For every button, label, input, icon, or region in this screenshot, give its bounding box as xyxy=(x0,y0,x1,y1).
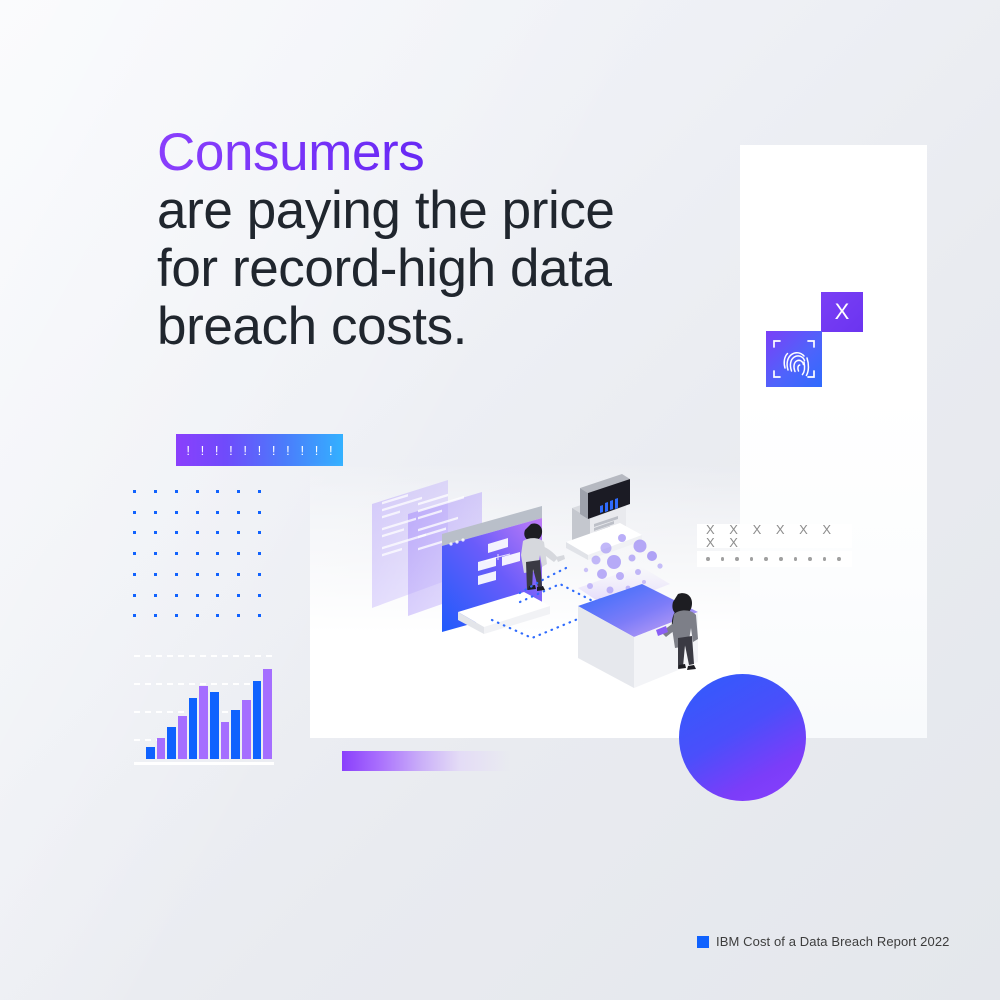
password-dot xyxy=(779,557,783,561)
headline-line-4: breach costs. xyxy=(157,298,717,356)
grid-dot xyxy=(237,552,240,555)
chart-bar xyxy=(231,710,240,759)
chart-bar xyxy=(157,738,166,759)
grid-dot xyxy=(175,490,178,493)
grid-dot xyxy=(216,573,219,576)
password-dots-row xyxy=(697,551,852,567)
headline-line-2: are paying the price xyxy=(157,182,717,240)
grid-dot xyxy=(237,594,240,597)
grid-dot xyxy=(175,573,178,576)
grid-dot xyxy=(154,531,157,534)
grid-dot xyxy=(154,614,157,617)
grid-dot xyxy=(154,490,157,493)
chart-bar xyxy=(253,681,262,759)
grid-dot xyxy=(175,594,178,597)
grid-dot xyxy=(237,531,240,534)
grid-dot xyxy=(258,490,261,493)
grid-dot xyxy=(216,552,219,555)
password-dot xyxy=(735,557,739,561)
grid-dot xyxy=(175,614,178,617)
alert-mark-1: ! xyxy=(201,444,205,457)
chart-bar xyxy=(146,747,155,759)
grid-dot xyxy=(196,511,199,514)
chart-bar xyxy=(221,722,230,759)
page-title: Consumers are paying the price for recor… xyxy=(157,124,717,356)
chart-bar xyxy=(263,669,272,759)
x-badge: X xyxy=(821,292,863,332)
masked-password-field[interactable]: X X X X X X X X xyxy=(697,524,852,548)
x-badge-label: X xyxy=(835,301,850,323)
bar-chart xyxy=(134,655,274,767)
grid-dot xyxy=(196,531,199,534)
grid-dot xyxy=(258,573,261,576)
alert-mark-7: ! xyxy=(286,444,290,457)
alert-mark-9: ! xyxy=(315,444,319,457)
grid-dot xyxy=(196,573,199,576)
isometric-illustration xyxy=(310,462,740,738)
chart-gridline xyxy=(134,655,274,657)
password-dot xyxy=(837,557,841,561)
grid-dot xyxy=(258,614,261,617)
grid-dot xyxy=(258,594,261,597)
chart-bars xyxy=(146,661,272,759)
alert-mark-10: ! xyxy=(329,444,333,457)
grid-dot xyxy=(175,531,178,534)
password-dot xyxy=(823,557,827,561)
fingerprint-scan-icon xyxy=(766,331,822,387)
grid-dot xyxy=(133,511,136,514)
password-dot xyxy=(706,557,710,561)
chart-bar xyxy=(210,692,219,759)
password-dot xyxy=(764,557,768,561)
chart-bar xyxy=(189,698,198,759)
poster-canvas: Consumers are paying the price for recor… xyxy=(0,0,1000,1000)
grid-dot xyxy=(237,573,240,576)
grid-dot xyxy=(175,552,178,555)
pie-chart-shape xyxy=(679,674,806,801)
grid-dot xyxy=(154,552,157,555)
chart-bar xyxy=(167,727,176,759)
grid-dot xyxy=(175,511,178,514)
password-dot xyxy=(794,557,798,561)
grid-dot xyxy=(196,490,199,493)
grid-dot xyxy=(196,594,199,597)
alert-mark-5: ! xyxy=(258,444,262,457)
grid-dot xyxy=(154,511,157,514)
alert-mark-2: ! xyxy=(215,444,219,457)
grid-dot xyxy=(258,552,261,555)
alert-mark-8: ! xyxy=(300,444,304,457)
dot-grid-decoration xyxy=(133,490,279,635)
credit-marker-icon xyxy=(697,936,709,948)
alert-mark-6: ! xyxy=(272,444,276,457)
alert-mark-0: ! xyxy=(186,444,190,457)
grid-dot xyxy=(133,573,136,576)
headline-highlight: Consumers xyxy=(157,124,717,182)
grid-dot xyxy=(258,531,261,534)
report-credit: IBM Cost of a Data Breach Report 2022 xyxy=(697,934,950,949)
grid-dot xyxy=(196,614,199,617)
password-dot xyxy=(721,557,725,561)
gradient-accent-bar xyxy=(342,751,510,771)
grid-dot xyxy=(216,594,219,597)
grid-dot xyxy=(237,490,240,493)
grid-dot xyxy=(133,531,136,534)
vertical-white-panel xyxy=(740,145,927,738)
grid-dot xyxy=(133,594,136,597)
password-dot xyxy=(808,557,812,561)
grid-dot xyxy=(133,490,136,493)
grid-dot xyxy=(237,511,240,514)
grid-dot xyxy=(133,614,136,617)
chart-axis-line xyxy=(134,762,274,765)
grid-dot xyxy=(216,531,219,534)
password-dot xyxy=(750,557,754,561)
alert-mark-3: ! xyxy=(229,444,233,457)
chart-bar xyxy=(242,700,251,759)
grid-dot xyxy=(216,614,219,617)
grid-dot xyxy=(196,552,199,555)
grid-dot xyxy=(154,594,157,597)
credit-text: IBM Cost of a Data Breach Report 2022 xyxy=(716,934,950,949)
headline-line-3: for record-high data xyxy=(157,240,717,298)
grid-dot xyxy=(237,614,240,617)
chart-bar xyxy=(178,716,187,759)
chart-bar xyxy=(199,686,208,759)
grid-dot xyxy=(133,552,136,555)
grid-dot xyxy=(154,573,157,576)
grid-dot xyxy=(216,511,219,514)
alert-mark-4: ! xyxy=(243,444,247,457)
grid-dot xyxy=(258,511,261,514)
grid-dot xyxy=(216,490,219,493)
